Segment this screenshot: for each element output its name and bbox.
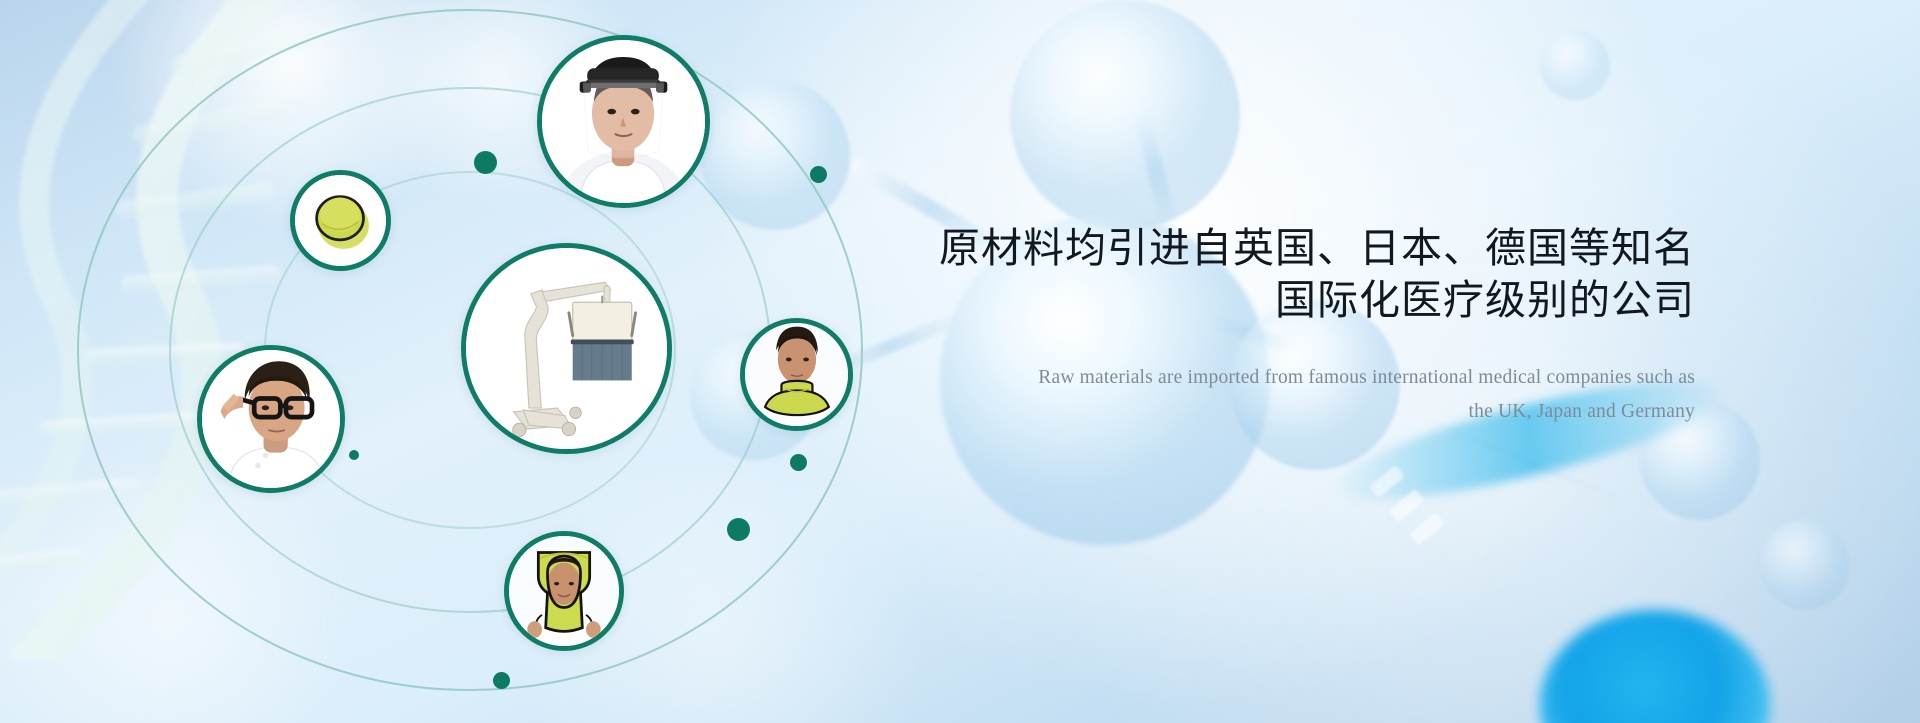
molecule-sphere xyxy=(1010,0,1240,230)
molecule-sphere xyxy=(1540,30,1610,100)
orbit-dot xyxy=(349,450,359,460)
molecule-sphere xyxy=(1760,520,1850,610)
subtitle-block: Raw materials are imported from famous i… xyxy=(915,361,1695,429)
orbit-dot xyxy=(474,151,497,174)
bubble-mobile-radiation-shield[interactable] xyxy=(461,243,672,454)
bubble-woman-thyroid-collar[interactable] xyxy=(740,318,853,431)
blue-accent-blob xyxy=(1540,610,1770,723)
bubble-man-face-shield[interactable] xyxy=(537,35,710,208)
bubble-woman-radiation-hood[interactable] xyxy=(504,531,624,651)
man-wearing-lead-glasses-icon xyxy=(202,350,340,488)
orbit-dot xyxy=(727,518,750,541)
orbit-dot xyxy=(810,166,827,183)
dashed-accent-marks xyxy=(1369,465,1455,558)
headline-line-2: 国际化医疗级别的公司 xyxy=(915,274,1695,326)
woman-radiation-hood-icon xyxy=(509,536,619,646)
green-lead-protective-cap-icon xyxy=(295,175,386,266)
mobile-radiation-shield-icon xyxy=(466,248,667,449)
hero-copy: 原材料均引进自英国、日本、德国等知名 国际化医疗级别的公司 Raw materi… xyxy=(915,222,1695,429)
orbit-dot xyxy=(493,672,510,689)
hero-banner: 原材料均引进自英国、日本、德国等知名 国际化医疗级别的公司 Raw materi… xyxy=(0,0,1920,723)
subtitle-line-2: the UK, Japan and Germany xyxy=(915,395,1695,429)
bubble-man-lead-glasses[interactable] xyxy=(197,345,345,493)
woman-thyroid-collar-icon xyxy=(745,323,848,426)
headline-line-1: 原材料均引进自英国、日本、德国等知名 xyxy=(915,222,1695,274)
subtitle-line-1: Raw materials are imported from famous i… xyxy=(915,361,1695,395)
molecule-bond xyxy=(1132,103,1179,233)
bubble-protective-cap[interactable] xyxy=(290,170,391,271)
man-wearing-lead-face-shield-icon xyxy=(542,40,705,203)
orbit-dot xyxy=(790,454,807,471)
